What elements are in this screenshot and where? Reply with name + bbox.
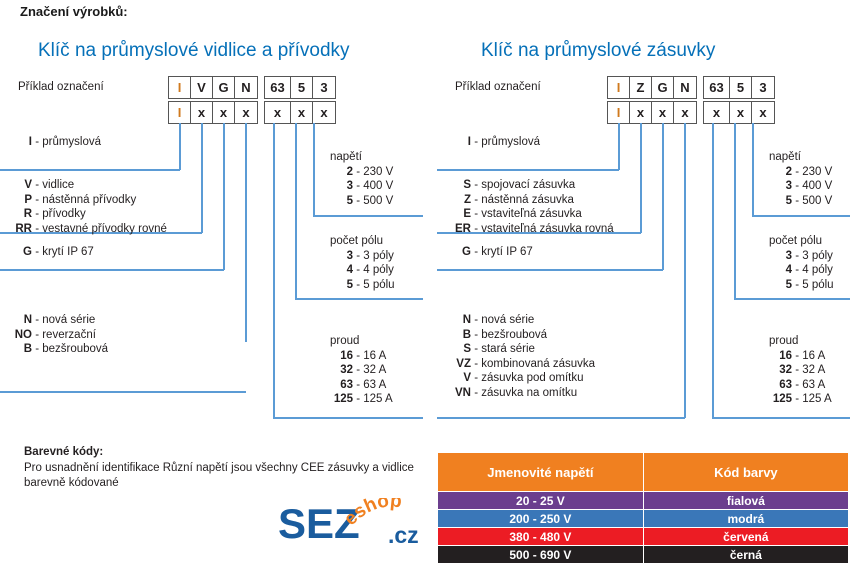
group-desc: - průmyslová	[35, 136, 101, 148]
code-cell: 63	[704, 77, 730, 98]
right-voltage-group: napětí 2 - 230 V 3 - 400 V 5 - 500 V	[766, 150, 832, 208]
current-code: 16	[327, 349, 353, 364]
current-code: 125	[766, 392, 792, 407]
page-title: Značení výrobků:	[20, 4, 128, 19]
right-example-code-row: I Z G N 63 5 3	[607, 76, 775, 99]
mask-cell: x	[235, 102, 257, 123]
connector-line	[295, 298, 423, 300]
connector-line	[640, 123, 642, 233]
voltage-desc: - 400 V	[795, 180, 832, 192]
code-cell: 3	[313, 77, 335, 98]
left-example-label: Příklad označení	[18, 81, 104, 93]
poles-code: 4	[327, 263, 353, 278]
left-group-type: V - vidlice P - nástěnná přívodky R - př…	[6, 178, 167, 236]
left-example-code-row: I V G N 63 5 3	[168, 76, 336, 99]
code-cell: N	[674, 77, 696, 98]
current-desc: - 125 A	[356, 393, 392, 405]
left-key-title: Klíč na průmyslové vidlice a přívodky	[38, 40, 350, 62]
group-desc: - zásuvka pod omítku	[474, 372, 583, 384]
connector-line	[437, 269, 663, 271]
group-desc: - vstaviteľná zásuvka rovná	[474, 223, 614, 235]
voltage-heading: napětí	[327, 150, 393, 165]
group-code: G	[445, 245, 471, 260]
connector-line	[313, 215, 423, 217]
code-cell: 5	[291, 77, 313, 98]
current-desc: - 16 A	[356, 350, 386, 362]
group-code: S	[445, 178, 471, 193]
connector-line	[437, 169, 619, 171]
poles-code: 5	[766, 278, 792, 293]
table-row: 500 - 690 V černá	[438, 546, 849, 564]
group-desc: - spojovací zásuvka	[474, 179, 575, 191]
connector-line	[734, 123, 736, 299]
group-desc: - vestavné přívodky rovné	[35, 223, 167, 235]
poles-desc: - 3 póly	[795, 250, 833, 262]
group-code: N	[6, 313, 32, 328]
connector-line	[684, 123, 686, 418]
connector-line	[437, 417, 685, 419]
group-desc: - zásuvka na omítku	[474, 387, 577, 399]
voltage-code: 2	[766, 165, 792, 180]
poles-code: 4	[766, 263, 792, 278]
group-code: VN	[445, 386, 471, 401]
group-desc: - kombinovaná zásuvka	[474, 358, 595, 370]
left-group-industrial: I - průmyslová	[6, 135, 101, 150]
voltage-desc: - 400 V	[356, 180, 393, 192]
left-code-numbers: 63 5 3	[264, 76, 336, 99]
group-desc: - nástěnná přívodky	[35, 194, 136, 206]
group-code: B	[6, 342, 32, 357]
group-code: E	[445, 207, 471, 222]
group-desc: - přívodky	[35, 208, 86, 220]
sez-eshop-logo: SEZ eshop .cz	[278, 498, 438, 550]
mask-cell: I	[608, 102, 630, 123]
code-cell: 3	[752, 77, 774, 98]
logo-tld-text: .cz	[388, 522, 419, 548]
left-mask-row: I x x x x x x	[168, 101, 336, 124]
group-code: VZ	[445, 357, 471, 372]
connector-line	[0, 391, 246, 393]
group-code: V	[6, 178, 32, 193]
connector-line	[273, 417, 423, 419]
mask-cell: x	[265, 102, 291, 123]
connector-line	[0, 269, 224, 271]
connector-line	[0, 169, 180, 171]
mask-cell: x	[191, 102, 213, 123]
group-code: Z	[445, 193, 471, 208]
voltage-heading: napětí	[766, 150, 832, 165]
cell-voltage: 200 - 250 V	[438, 510, 644, 528]
code-cell: I	[608, 77, 630, 98]
current-code: 32	[766, 363, 792, 378]
current-heading: proud	[327, 334, 393, 349]
header-voltage: Jmenovité napětí	[438, 453, 644, 492]
right-group-series: N - nová série B - bezšroubová S - stará…	[445, 313, 595, 400]
cell-voltage: 500 - 690 V	[438, 546, 644, 564]
code-cell: Z	[630, 77, 652, 98]
current-desc: - 63 A	[795, 379, 825, 391]
group-desc: - krytí IP 67	[35, 246, 94, 258]
current-code: 125	[327, 392, 353, 407]
poles-desc: - 5 pólu	[795, 279, 833, 291]
table-row: 200 - 250 V modrá	[438, 510, 849, 528]
code-cell: V	[191, 77, 213, 98]
poles-desc: - 5 pólu	[356, 279, 394, 291]
connector-line	[295, 123, 297, 299]
group-code: P	[6, 193, 32, 208]
poles-code: 3	[327, 249, 353, 264]
group-desc: - bezšroubová	[35, 343, 108, 355]
group-desc: - průmyslová	[474, 136, 540, 148]
voltage-color-code-table: Jmenovité napětí Kód barvy 20 - 25 V fia…	[437, 452, 849, 564]
group-code: S	[445, 342, 471, 357]
voltage-code: 3	[327, 179, 353, 194]
right-poles-group: počet pólu 3 - 3 póly 4 - 4 póly 5 - 5 p…	[766, 234, 834, 292]
left-voltage-group: napětí 2 - 230 V 3 - 400 V 5 - 500 V	[327, 150, 393, 208]
voltage-code: 5	[327, 194, 353, 209]
poles-desc: - 4 póly	[356, 264, 394, 276]
mask-cell: x	[652, 102, 674, 123]
logo-svg: SEZ eshop .cz	[278, 498, 438, 550]
connector-line	[734, 298, 850, 300]
code-cell: N	[235, 77, 257, 98]
cell-voltage: 20 - 25 V	[438, 492, 644, 510]
connector-line	[223, 123, 225, 270]
connector-line	[712, 417, 850, 419]
connector-line	[313, 123, 315, 216]
poles-code: 3	[766, 249, 792, 264]
group-desc: - stará série	[474, 343, 535, 355]
current-desc: - 63 A	[356, 379, 386, 391]
connector-line	[712, 123, 714, 418]
mask-cell: I	[169, 102, 191, 123]
voltage-desc: - 230 V	[795, 166, 832, 178]
current-heading: proud	[766, 334, 832, 349]
group-code: B	[445, 328, 471, 343]
group-code: G	[6, 245, 32, 260]
right-example-label: Příklad označení	[455, 81, 541, 93]
mask-cell: x	[630, 102, 652, 123]
voltage-code: 2	[327, 165, 353, 180]
group-code: NO	[6, 328, 32, 343]
mask-cell: x	[291, 102, 313, 123]
connector-line	[179, 123, 181, 170]
color-codes-note-title: Barevné kódy:	[24, 446, 103, 458]
current-desc: - 32 A	[356, 364, 386, 376]
poles-desc: - 3 póly	[356, 250, 394, 262]
group-code: V	[445, 371, 471, 386]
connector-line	[662, 123, 664, 270]
poles-desc: - 4 póly	[795, 264, 833, 276]
right-code-letters: I Z G N	[607, 76, 697, 99]
mask-cell: x	[704, 102, 730, 123]
left-poles-group: počet pólu 3 - 3 póly 4 - 4 póly 5 - 5 p…	[327, 234, 395, 292]
code-cell: G	[652, 77, 674, 98]
cell-color-name: červená	[643, 528, 848, 546]
left-group-protection: G - krytí IP 67	[6, 245, 94, 260]
code-cell: 5	[730, 77, 752, 98]
connector-line	[201, 123, 203, 233]
current-code: 16	[766, 349, 792, 364]
table-row: 380 - 480 V červená	[438, 528, 849, 546]
mask-cell: x	[213, 102, 235, 123]
group-desc: - nástěnná zásuvka	[474, 194, 574, 206]
right-key-title: Klíč na průmyslové zásuvky	[481, 40, 715, 62]
voltage-desc: - 230 V	[356, 166, 393, 178]
right-code-numbers: 63 5 3	[703, 76, 775, 99]
poles-code: 5	[327, 278, 353, 293]
cell-color-name: černá	[643, 546, 848, 564]
voltage-code: 3	[766, 179, 792, 194]
table-header-row: Jmenovité napětí Kód barvy	[438, 453, 849, 492]
header-color: Kód barvy	[643, 453, 848, 492]
mask-cell: x	[730, 102, 752, 123]
group-code: RR	[6, 222, 32, 237]
voltage-code: 5	[766, 194, 792, 209]
code-cell: I	[169, 77, 191, 98]
current-desc: - 16 A	[795, 350, 825, 362]
right-group-protection: G - krytí IP 67	[445, 245, 533, 260]
group-desc: - reverzační	[35, 329, 96, 341]
group-code: R	[6, 207, 32, 222]
table-row: 20 - 25 V fialová	[438, 492, 849, 510]
right-current-group: proud 16 - 16 A 32 - 32 A 63 - 63 A 125 …	[766, 334, 832, 407]
group-code: N	[445, 313, 471, 328]
current-code: 63	[766, 378, 792, 393]
group-desc: - vstaviteľná zásuvka	[474, 208, 582, 220]
right-mask-row: I x x x x x x	[607, 101, 775, 124]
group-desc: - bezšroubová	[474, 329, 547, 341]
group-desc: - vidlice	[35, 179, 74, 191]
poles-heading: počet pólu	[766, 234, 834, 249]
group-desc: - krytí IP 67	[474, 246, 533, 258]
connector-line	[245, 123, 247, 342]
left-mask-letters: I x x x	[168, 101, 258, 124]
connector-line	[618, 123, 620, 170]
voltage-desc: - 500 V	[356, 195, 393, 207]
group-code: I	[6, 135, 32, 150]
group-desc: - nová série	[474, 314, 534, 326]
mask-cell: x	[752, 102, 774, 123]
right-group-type: S - spojovací zásuvka Z - nástěnná zásuv…	[445, 178, 614, 236]
logo-main-text: SEZ	[278, 500, 360, 547]
group-code: ER	[445, 222, 471, 237]
connector-line	[273, 123, 275, 418]
right-mask-letters: I x x x	[607, 101, 697, 124]
group-desc: - nová série	[35, 314, 95, 326]
poles-heading: počet pólu	[327, 234, 395, 249]
mask-cell: x	[313, 102, 335, 123]
current-code: 63	[327, 378, 353, 393]
current-desc: - 125 A	[795, 393, 831, 405]
cell-color-name: modrá	[643, 510, 848, 528]
cell-voltage: 380 - 480 V	[438, 528, 644, 546]
color-codes-note-body: Pro usnadnění identifikace Různí napětí …	[24, 461, 424, 491]
left-current-group: proud 16 - 16 A 32 - 32 A 63 - 63 A 125 …	[327, 334, 393, 407]
right-mask-numbers: x x x	[703, 101, 775, 124]
connector-line	[752, 123, 754, 216]
left-group-series: N - nová série NO - reverzační B - bezšr…	[6, 313, 108, 357]
left-mask-numbers: x x x	[264, 101, 336, 124]
right-group-industrial: I - průmyslová	[445, 135, 540, 150]
left-code-letters: I V G N	[168, 76, 258, 99]
mask-cell: x	[674, 102, 696, 123]
cell-color-name: fialová	[643, 492, 848, 510]
voltage-desc: - 500 V	[795, 195, 832, 207]
current-code: 32	[327, 363, 353, 378]
group-code: I	[445, 135, 471, 150]
connector-line	[752, 215, 850, 217]
current-desc: - 32 A	[795, 364, 825, 376]
code-cell: G	[213, 77, 235, 98]
code-cell: 63	[265, 77, 291, 98]
